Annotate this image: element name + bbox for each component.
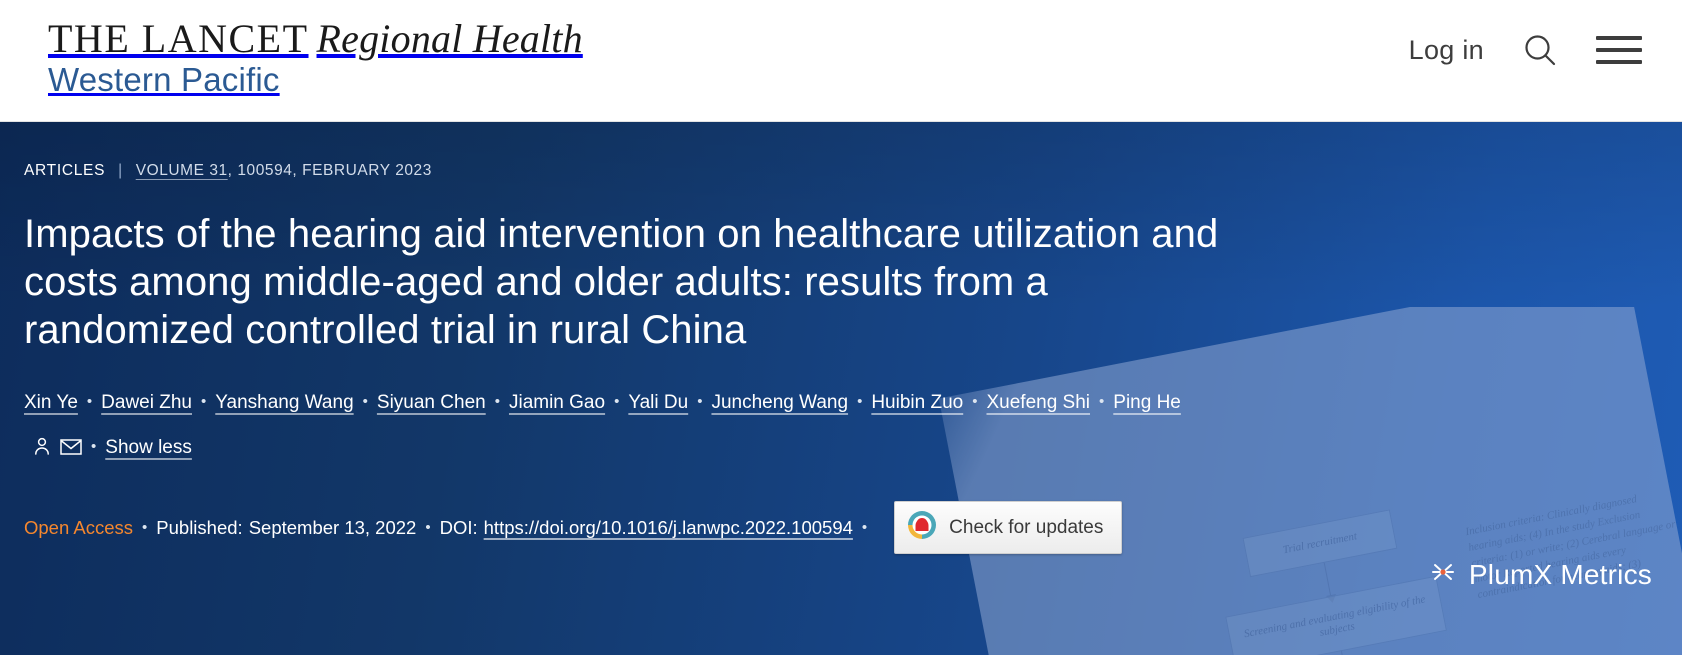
- published-label: Published:: [156, 517, 242, 539]
- author-link[interactable]: Huibin Zuo: [871, 392, 963, 413]
- author-separator: •: [614, 380, 619, 424]
- hamburger-bar-1: [1596, 36, 1642, 40]
- brand-lancet-text: THE LANCET: [48, 16, 309, 61]
- author-link[interactable]: Juncheng Wang: [711, 392, 848, 413]
- breadcrumb: ARTICLES | VOLUME 31, 100594, FEBRUARY 2…: [24, 162, 1634, 180]
- author-list: Xin Ye•Dawei Zhu•Yanshang Wang•Siyuan Ch…: [24, 380, 1204, 473]
- meta-separator: •: [142, 519, 147, 536]
- hamburger-bar-2: [1596, 48, 1642, 52]
- author-profile-icon[interactable]: [32, 429, 52, 473]
- artwork-box: Screening and evaluating eligibility of …: [1225, 576, 1447, 655]
- author-separator: •: [363, 380, 368, 424]
- open-access-badge[interactable]: Open Access: [24, 517, 133, 539]
- breadcrumb-volume-link[interactable]: VOLUME 31: [136, 162, 228, 180]
- brand-region-text: Western Pacific: [48, 60, 583, 100]
- author-separator: •: [972, 380, 977, 424]
- hamburger-menu-icon[interactable]: [1596, 36, 1642, 64]
- article-meta-row: Open Access • Published: September 13, 2…: [24, 501, 1634, 554]
- hamburger-bars: [1596, 36, 1642, 64]
- plumx-icon: [1429, 558, 1457, 591]
- doi-label: DOI:: [440, 517, 478, 539]
- hero-content: ARTICLES | VOLUME 31, 100594, FEBRUARY 2…: [0, 122, 1682, 554]
- search-icon[interactable]: [1520, 30, 1560, 70]
- author-link[interactable]: Jiamin Gao: [509, 392, 605, 413]
- author-separator: •: [697, 380, 702, 424]
- plumx-metrics-link[interactable]: PlumX Metrics: [1429, 558, 1652, 591]
- breadcrumb-articles-link[interactable]: ARTICLES: [24, 162, 105, 180]
- published-date: September 13, 2022: [249, 517, 417, 539]
- author-link[interactable]: Yali Du: [628, 392, 688, 413]
- check-for-updates-label: Check for updates: [949, 517, 1103, 539]
- site-logo[interactable]: THE LANCETRegional Health Western Pacifi…: [48, 16, 583, 100]
- meta-separator: •: [862, 519, 867, 536]
- doi-link[interactable]: https://doi.org/10.1016/j.lanwpc.2022.10…: [484, 517, 853, 539]
- author-link[interactable]: Yanshang Wang: [215, 392, 353, 413]
- breadcrumb-separator: |: [118, 162, 123, 180]
- crossmark-logo-icon: [907, 510, 937, 545]
- author-link[interactable]: Siyuan Chen: [377, 392, 486, 413]
- author-separator: •: [495, 380, 500, 424]
- artwork-arrow: [1341, 651, 1349, 655]
- plumx-metrics-label: PlumX Metrics: [1469, 559, 1652, 591]
- author-separator: •: [87, 380, 92, 424]
- site-header: THE LANCETRegional Health Western Pacifi…: [0, 0, 1682, 122]
- article-title: Impacts of the hearing aid intervention …: [24, 210, 1264, 354]
- author-separator: •: [201, 380, 206, 424]
- hamburger-bar-3: [1596, 60, 1642, 64]
- author-separator: •: [857, 380, 862, 424]
- artwork-arrow: [1324, 563, 1332, 597]
- author-link[interactable]: Dawei Zhu: [101, 392, 192, 413]
- author-separator: •: [91, 425, 96, 469]
- article-hero-banner: Trial recruitment Screening and evaluati…: [0, 122, 1682, 655]
- login-link[interactable]: Log in: [1409, 35, 1484, 66]
- author-link[interactable]: Xuefeng Shi: [986, 392, 1090, 413]
- email-icon[interactable]: [60, 429, 82, 473]
- brand-primary-line: THE LANCETRegional Health: [48, 16, 583, 62]
- brand-regional-health-text: Regional Health: [317, 16, 583, 61]
- author-separator: •: [1099, 380, 1104, 424]
- author-link[interactable]: Xin Ye: [24, 392, 78, 413]
- show-less-toggle[interactable]: Show less: [105, 437, 192, 458]
- author-link[interactable]: Ping He: [1113, 392, 1181, 413]
- check-for-updates-button[interactable]: Check for updates: [894, 501, 1122, 554]
- header-actions: Log in: [1409, 30, 1642, 70]
- meta-separator: •: [425, 519, 430, 536]
- breadcrumb-issue-info: , 100594, FEBRUARY 2023: [228, 162, 432, 180]
